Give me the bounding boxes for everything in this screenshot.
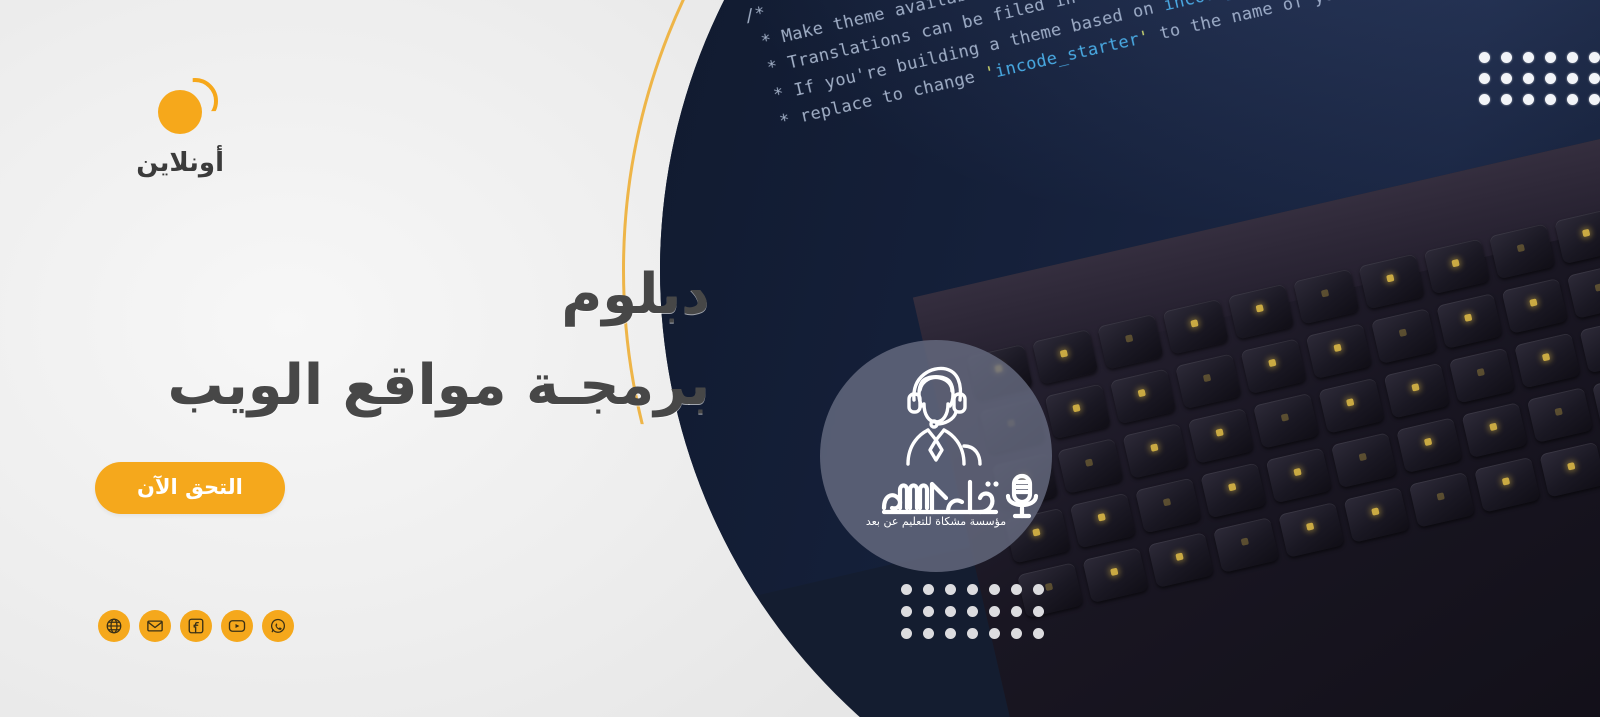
keyboard-key xyxy=(1527,387,1593,443)
brand-name: أونلاين xyxy=(104,148,224,178)
sun-circle-arc-logo xyxy=(158,78,222,134)
headline-line-1: دبلوم xyxy=(167,250,710,341)
keyboard-key xyxy=(1201,462,1267,518)
grid-dot xyxy=(1479,52,1490,63)
grid-dot xyxy=(945,584,956,595)
keyboard-key xyxy=(1135,477,1201,533)
microphone-icon xyxy=(1008,476,1036,516)
facebook-icon[interactable] xyxy=(180,610,212,642)
grid-dot xyxy=(1589,52,1600,63)
grid-dot xyxy=(945,606,956,617)
globe-icon[interactable] xyxy=(98,610,130,642)
promo-banner: 1 * @link https://developer.wordpress.or… xyxy=(0,0,1600,717)
grid-dot xyxy=(1011,606,1022,617)
grid-dot xyxy=(923,628,934,639)
keyboard-key xyxy=(1502,278,1568,334)
keyboard-key xyxy=(1475,457,1541,513)
keyboard-key xyxy=(1266,447,1332,503)
grid-dot xyxy=(923,606,934,617)
institute-badge: مؤسسة مشكاة للتعليم عن بعد xyxy=(820,340,1052,572)
grid-dot xyxy=(989,628,1000,639)
brand-logo[interactable]: أونلاين xyxy=(104,78,224,178)
badge-wordmark xyxy=(820,468,1052,522)
keyboard-key xyxy=(1253,393,1319,449)
keyboard-key xyxy=(1462,402,1528,458)
youtube-icon[interactable] xyxy=(221,610,253,642)
keyboard-key xyxy=(1083,547,1149,603)
dot-grid-white xyxy=(1468,52,1600,115)
headset-support-agent-icon xyxy=(884,360,988,472)
grid-dot xyxy=(1479,73,1490,84)
keyboard-key xyxy=(1567,263,1600,319)
grid-dot xyxy=(923,584,934,595)
grid-dot xyxy=(1011,584,1022,595)
hero-photo: 1 * @link https://developer.wordpress.or… xyxy=(660,0,1600,717)
grid-dot xyxy=(1501,73,1512,84)
keyboard-key xyxy=(1241,338,1307,394)
keyboard-key xyxy=(1515,332,1581,388)
keyboard-key xyxy=(1058,438,1124,494)
grid-dot xyxy=(1523,94,1534,105)
keyboard-key xyxy=(1123,423,1189,479)
grid-dot xyxy=(967,628,978,639)
grid-dot xyxy=(901,584,912,595)
grid-dot xyxy=(1523,73,1534,84)
keyboard-key xyxy=(1344,487,1410,543)
keyboard-key xyxy=(1331,432,1397,488)
keyboard-key xyxy=(1580,317,1600,373)
grid-dot xyxy=(967,584,978,595)
keyboard-key xyxy=(1188,408,1254,464)
hero-photo-image: 1 * @link https://developer.wordpress.or… xyxy=(660,0,1600,717)
keyboard-key xyxy=(1279,502,1345,558)
keyboard-key xyxy=(1409,472,1475,528)
grid-dot xyxy=(967,606,978,617)
grid-dot xyxy=(1545,94,1556,105)
grid-dot xyxy=(989,606,1000,617)
keyboard-key xyxy=(1384,363,1450,419)
code-text: 1 * @link https://developer.wordpress.or… xyxy=(660,0,1600,170)
grid-dot xyxy=(1033,606,1044,617)
keyboard-key xyxy=(1540,442,1600,498)
grid-dot xyxy=(1545,52,1556,63)
envelope-icon[interactable] xyxy=(139,610,171,642)
keyboard-key xyxy=(1371,308,1437,364)
grid-dot xyxy=(1523,52,1534,63)
grid-dot xyxy=(945,628,956,639)
grid-dot xyxy=(1033,628,1044,639)
grid-dot xyxy=(1501,94,1512,105)
page-title: دبلوم برمجـة مواقع الويب xyxy=(167,250,710,431)
grid-dot xyxy=(1589,73,1600,84)
grid-dot xyxy=(1501,52,1512,63)
grid-dot xyxy=(901,628,912,639)
grid-dot xyxy=(1479,94,1490,105)
whatsapp-icon[interactable] xyxy=(262,610,294,642)
keyboard-key xyxy=(1213,517,1279,573)
headline-line-2: برمجـة مواقع الويب xyxy=(167,341,710,432)
enroll-now-button[interactable]: التحق الآن xyxy=(95,462,285,514)
grid-dot xyxy=(1545,73,1556,84)
grid-dot xyxy=(901,606,912,617)
grid-dot xyxy=(1567,73,1578,84)
dot-grid-grey xyxy=(890,584,1044,650)
grid-dot xyxy=(1011,628,1022,639)
keyboard-key xyxy=(1306,323,1372,379)
grid-dot xyxy=(989,584,1000,595)
grid-dot xyxy=(1033,584,1044,595)
grid-dot xyxy=(1589,94,1600,105)
grid-dot xyxy=(1567,52,1578,63)
keyboard-key xyxy=(1319,378,1385,434)
keyboard-key xyxy=(1592,372,1600,428)
keyboard-key xyxy=(1110,368,1176,424)
badge-tagline: مؤسسة مشكاة للتعليم عن بعد xyxy=(820,515,1052,528)
keyboard-key xyxy=(1397,417,1463,473)
keyboard-key xyxy=(1148,532,1214,588)
keyboard-key xyxy=(1070,492,1136,548)
social-links xyxy=(98,610,294,642)
keyboard-key xyxy=(1437,293,1503,349)
grid-dot xyxy=(1567,94,1578,105)
keyboard-key xyxy=(1449,347,1515,403)
keyboard-key xyxy=(1176,353,1242,409)
keyboard-key xyxy=(1045,383,1111,439)
